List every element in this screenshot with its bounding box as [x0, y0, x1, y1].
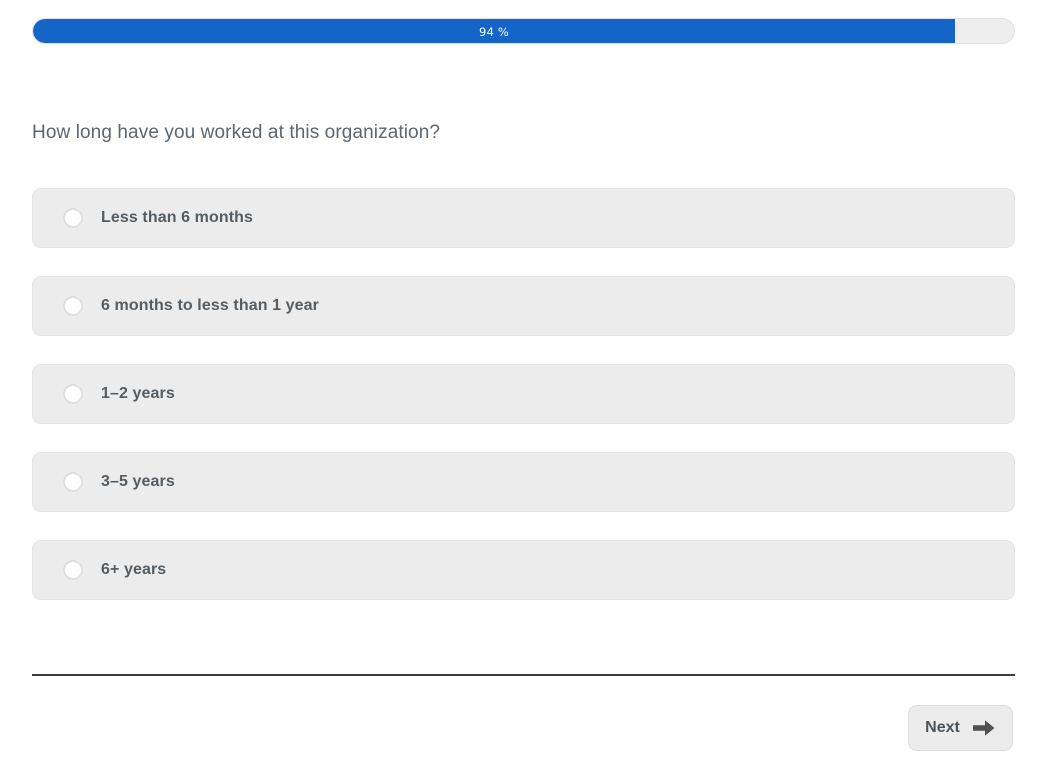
survey-page: 94 % How long have you worked at this or…: [0, 0, 1037, 770]
option-label: 6 months to less than 1 year: [101, 297, 319, 315]
option-row[interactable]: 3–5 years: [32, 452, 1015, 512]
arrow-right-icon: [972, 718, 996, 738]
option-row[interactable]: 6 months to less than 1 year: [32, 276, 1015, 336]
options-list: Less than 6 months 6 months to less than…: [32, 188, 1015, 600]
progress-track: 94 %: [32, 18, 1015, 44]
option-row[interactable]: Less than 6 months: [32, 188, 1015, 248]
option-label: 1–2 years: [101, 385, 175, 403]
option-row[interactable]: 1–2 years: [32, 364, 1015, 424]
next-button-label: Next: [925, 719, 960, 737]
question-title: How long have you worked at this organiz…: [32, 122, 440, 144]
radio-button-icon[interactable]: [63, 296, 83, 316]
radio-button-icon[interactable]: [63, 472, 83, 492]
progress-bar: 94 %: [32, 18, 1015, 44]
footer-divider: [32, 674, 1015, 676]
option-row[interactable]: 6+ years: [32, 540, 1015, 600]
option-label: 3–5 years: [101, 473, 175, 491]
radio-button-icon[interactable]: [63, 208, 83, 228]
progress-percent-label: 94 %: [33, 19, 955, 44]
option-label: 6+ years: [101, 561, 166, 579]
option-label: Less than 6 months: [101, 209, 253, 227]
radio-button-icon[interactable]: [63, 384, 83, 404]
next-button[interactable]: Next: [908, 705, 1013, 751]
radio-button-icon[interactable]: [63, 560, 83, 580]
